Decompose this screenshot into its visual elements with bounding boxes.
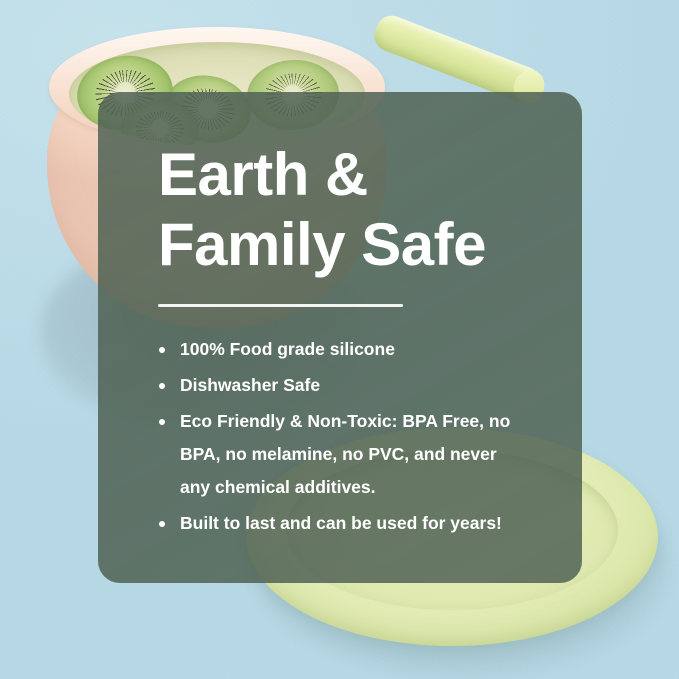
- page-title: Earth & Family Safe: [158, 140, 542, 280]
- feature-list: 100% Food grade silicone Dishwasher Safe…: [158, 333, 542, 540]
- list-item: 100% Food grade silicone: [158, 333, 530, 366]
- feature-overlay-card: Earth & Family Safe 100% Food grade sili…: [98, 92, 582, 583]
- card-content: Earth & Family Safe 100% Food grade sili…: [98, 92, 582, 540]
- list-item: Dishwasher Safe: [158, 369, 530, 402]
- product-feature-image: Earth & Family Safe 100% Food grade sili…: [0, 0, 679, 679]
- divider-rule: [158, 304, 403, 307]
- list-item: Eco Friendly & Non-Toxic: BPA Free, no B…: [158, 405, 530, 504]
- list-item: Built to last and can be used for years!: [158, 507, 530, 540]
